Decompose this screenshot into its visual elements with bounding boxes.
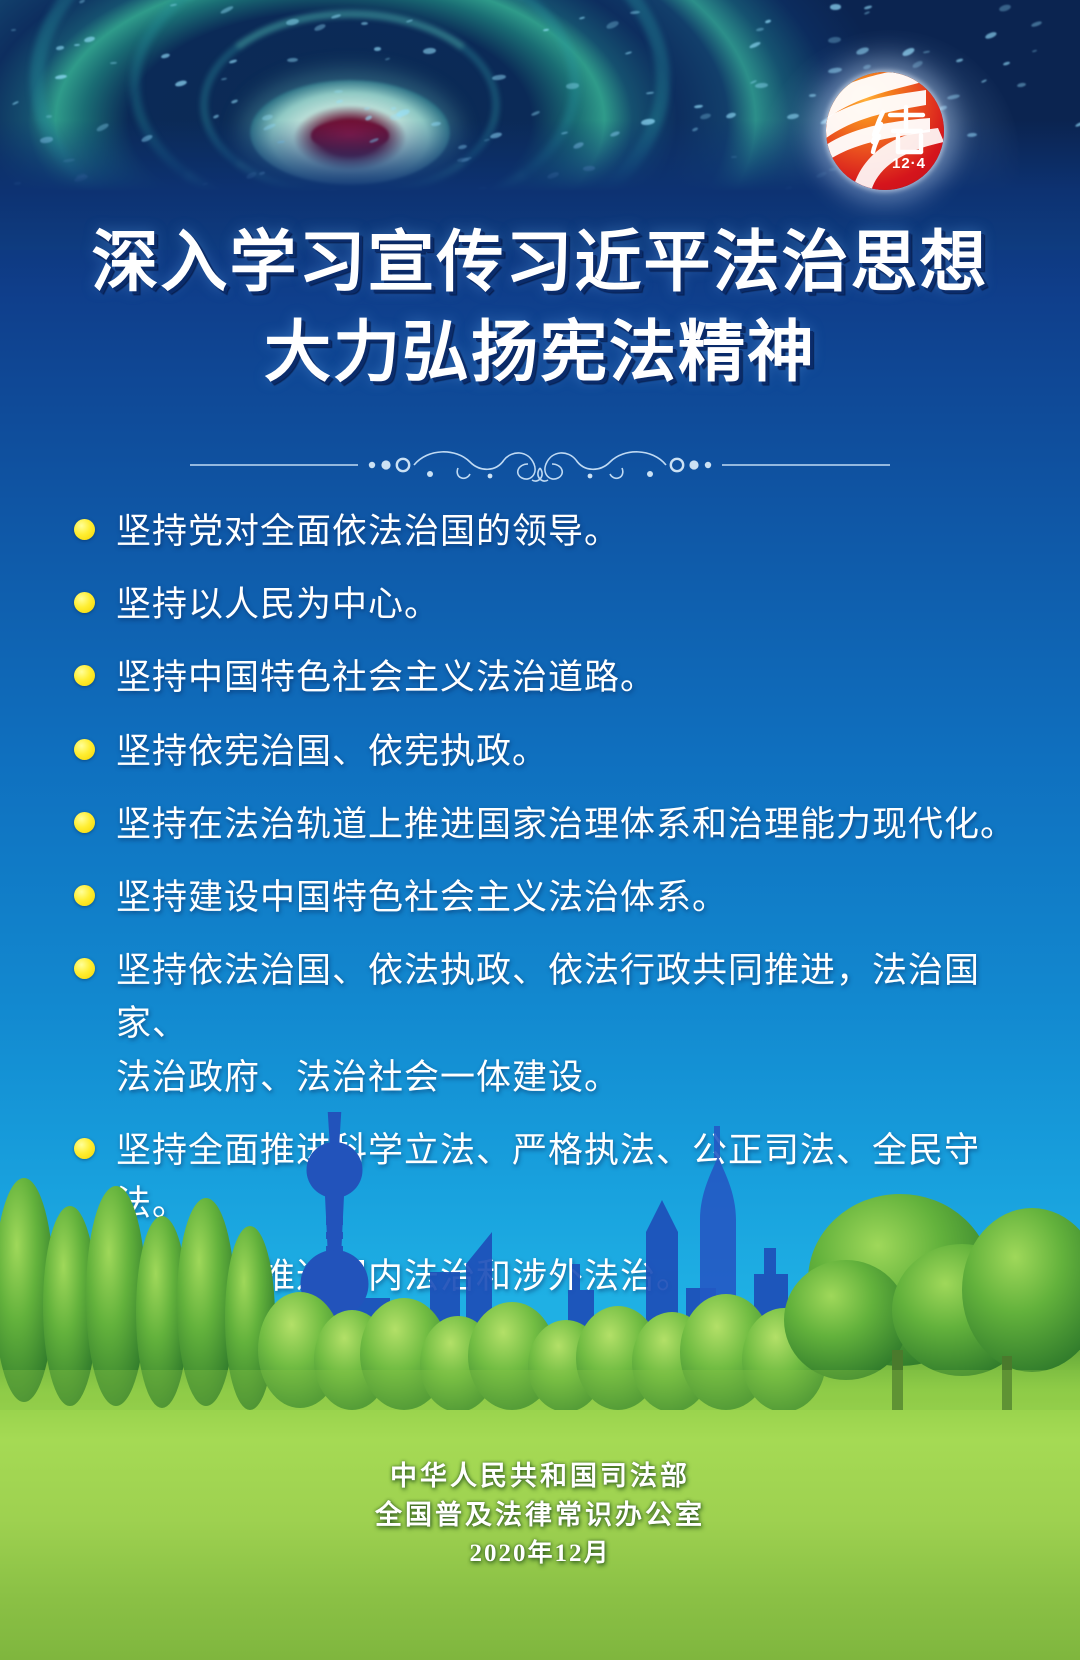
title-block: 深入学习宣传习近平法治思想 大力弘扬宪法精神 (0, 222, 1080, 393)
list-item-text: 坚持在法治轨道上推进国家治理体系和治理能力现代化。 (116, 805, 1016, 844)
list-item-text: 坚持以人民为中心。 (116, 585, 440, 624)
list-item-text: 坚持建设中国特色社会主义法治体系。 (116, 878, 728, 917)
poster-title-line-2: 大力弘扬宪法精神 (0, 312, 1080, 394)
ornamental-divider (0, 424, 1080, 486)
list-item-text: 坚持中国特色社会主义法治道路。 (116, 658, 656, 697)
bullet-dot-icon (74, 739, 95, 760)
bullet-dot-icon (74, 885, 95, 906)
list-item: 坚持以人民为中心。 (66, 578, 1016, 631)
bullet-dot-icon (74, 592, 95, 613)
bullet-dot-icon (74, 519, 95, 540)
bullet-dot-icon (74, 812, 95, 833)
list-item: 坚持依宪治国、依宪执政。 (66, 725, 1016, 778)
list-item-text: 坚持依法治国、依法执政、依法行政共同推进，法治国家、 (116, 951, 980, 1043)
poster-root: 12·4 法 12·4 深入学习宣传习近平法治思想 大力弘扬宪法精神 (0, 0, 1080, 1660)
footer-credits: 中华人民共和国司法部 全国普及法律常识办公室 2020年12月 (0, 1457, 1080, 1572)
national-constitution-day-emblem: 12·4 法 12·4 (826, 72, 944, 190)
list-item: 坚持党对全面依法治国的领导。 (66, 505, 1016, 558)
list-item-text-line2: 法治政府、法治社会一体建设。 (116, 1051, 1016, 1104)
svg-text:12·4: 12·4 (892, 155, 926, 172)
footer-line-office: 全国普及法律常识办公室 (0, 1496, 1080, 1535)
list-item: 坚持在法治轨道上推进国家治理体系和治理能力现代化。 (66, 798, 1016, 851)
list-item-text: 坚持依宪治国、依宪执政。 (116, 732, 548, 771)
footer-line-date: 2020年12月 (0, 1536, 1080, 1573)
bullet-dot-icon (74, 665, 95, 686)
list-item: 坚持建设中国特色社会主义法治体系。 (66, 871, 1016, 924)
list-item: 坚持中国特色社会主义法治道路。 (66, 651, 1016, 704)
poster-title-line-1: 深入学习宣传习近平法治思想 (0, 222, 1080, 304)
list-item: 坚持依法治国、依法执政、依法行政共同推进，法治国家、法治政府、法治社会一体建设。 (66, 944, 1016, 1104)
tree-line (0, 1160, 1080, 1410)
footer-line-ministry: 中华人民共和国司法部 (0, 1457, 1080, 1496)
bullet-dot-icon (74, 958, 95, 979)
list-item-text: 坚持党对全面依法治国的领导。 (116, 512, 620, 551)
